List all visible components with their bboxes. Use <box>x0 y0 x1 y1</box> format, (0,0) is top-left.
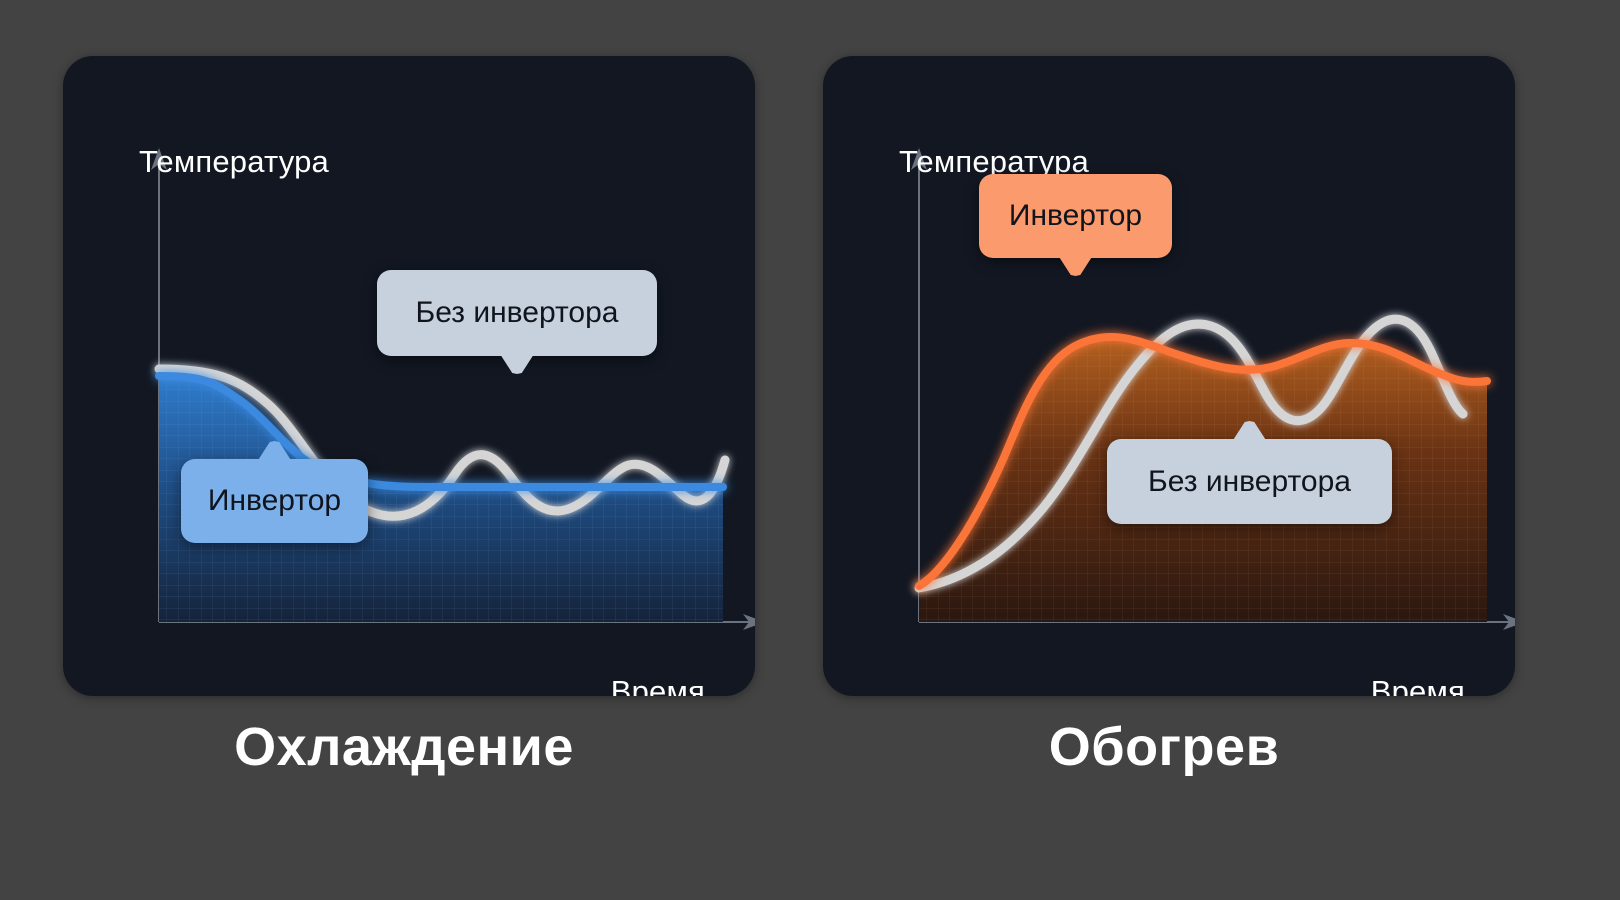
callout-no-inverter-cooling[interactable]: Без инвертора <box>377 270 657 356</box>
caption-cooling: Охлаждение <box>24 716 784 778</box>
callout-label: Инвертор <box>208 484 341 518</box>
callout-no-inverter-heating[interactable]: Без инвертора <box>1107 439 1392 524</box>
callout-label: Инвертор <box>1009 199 1142 233</box>
callout-label: Без инвертора <box>416 296 619 330</box>
panel-column-heating: Температура Время Инвертор Без инвертора… <box>784 0 1544 900</box>
infographic-root: Температура Время Без инвертора Инвертор… <box>0 0 1620 900</box>
callout-inverter-cooling[interactable]: Инвертор <box>181 459 368 543</box>
x-axis-label-cooling: Время <box>611 674 705 696</box>
chart-card-heating: Температура Время Инвертор Без инвертора <box>823 56 1515 696</box>
y-axis-label-cooling: Температура <box>139 144 329 180</box>
panel-column-cooling: Температура Время Без инвертора Инвертор… <box>24 0 784 900</box>
chart-card-cooling: Температура Время Без инвертора Инвертор <box>63 56 755 696</box>
chart-area-heating: Температура Время Инвертор Без инвертора <box>823 56 1515 696</box>
caption-heating: Обогрев <box>784 716 1544 778</box>
callout-label: Без инвертора <box>1148 465 1351 499</box>
callout-inverter-heating[interactable]: Инвертор <box>979 174 1172 258</box>
chart-area-cooling: Температура Время Без инвертора Инвертор <box>63 56 755 696</box>
x-axis-label-heating: Время <box>1371 674 1465 696</box>
